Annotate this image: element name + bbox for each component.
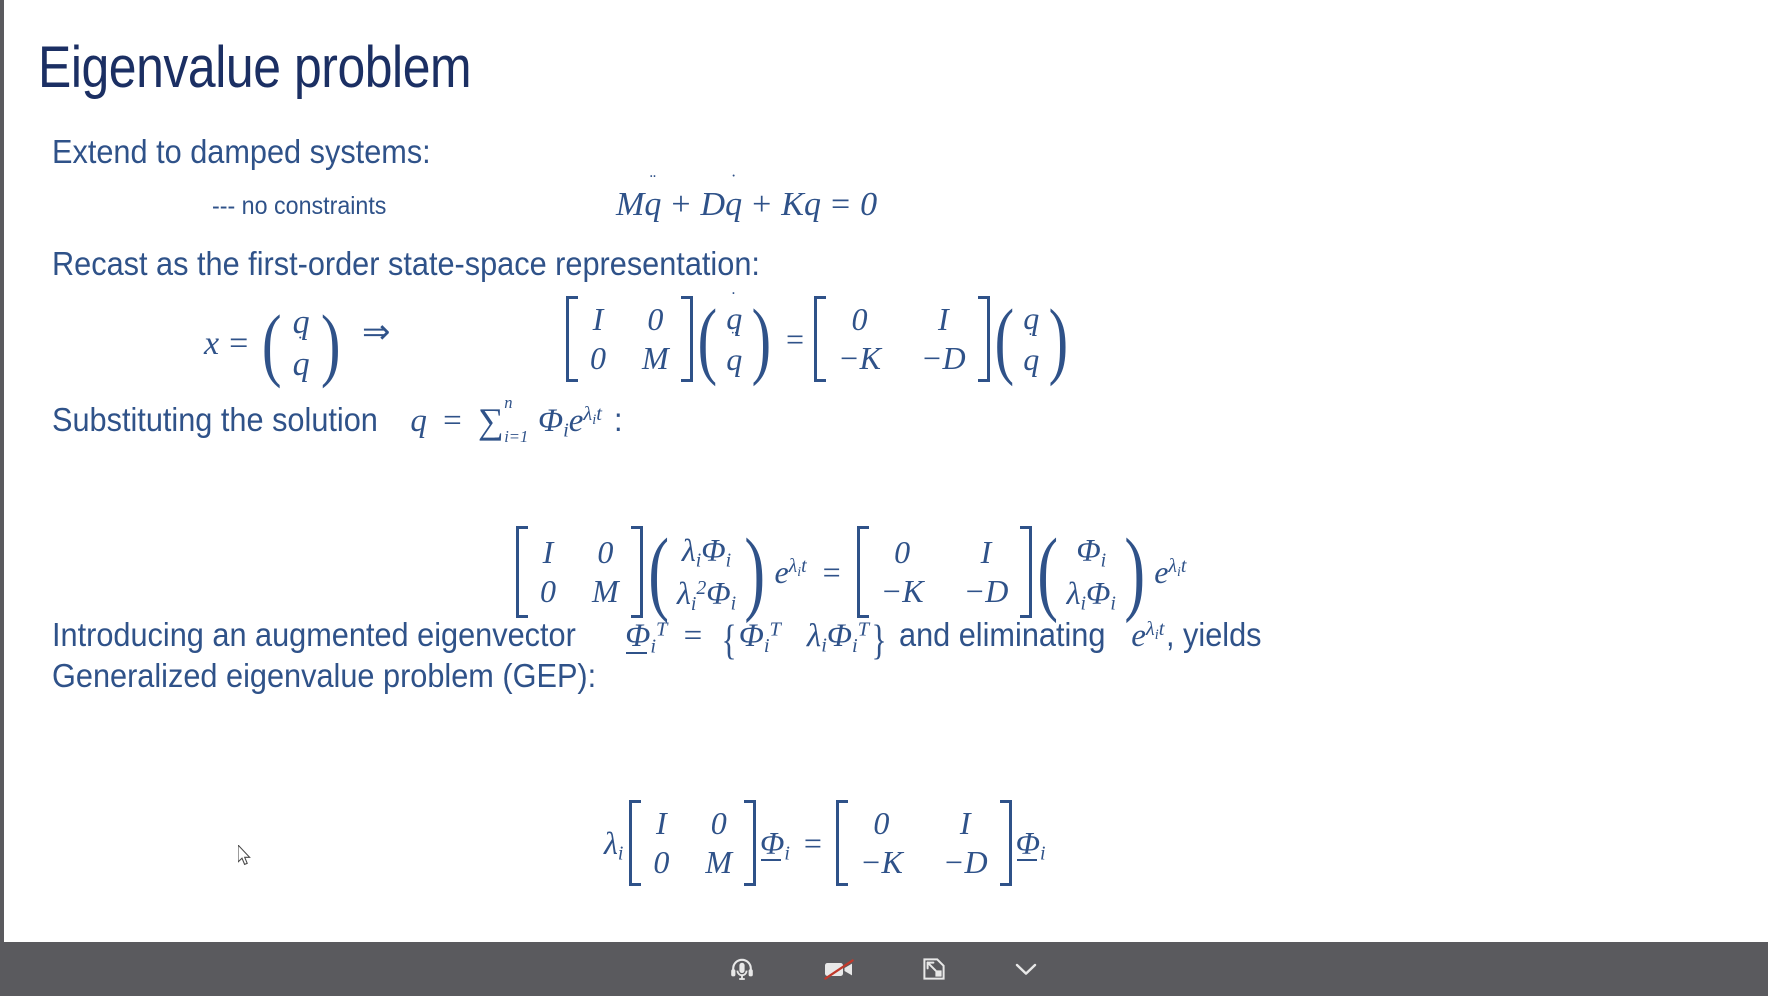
state-space-right-matrix: 0 I −K −D: [814, 296, 990, 382]
implies-arrow: ⇒: [362, 316, 391, 350]
eom-qdot: q˙: [725, 186, 742, 224]
text-substituting-solution-row: Substituting the solution q = ∑ni=1 Φieλ…: [52, 400, 623, 442]
sub-right-vector-row-1: Φi: [1076, 532, 1106, 569]
screen-share-viewport: Eigenvalue problem Extend to damped syst…: [0, 0, 1768, 996]
text-and-eliminating: and eliminating: [899, 616, 1105, 654]
generalized-eigenvalue-problem-equation: λi I 0 0 M Φi = 0 I −K −D: [604, 800, 1045, 886]
exit-fullscreen-icon: [921, 956, 947, 982]
text-introducing-row: Introducing an augmented eigenvector ΦiT…: [52, 616, 1269, 662]
augmented-phi-symbol: Φ: [625, 618, 650, 655]
summation-sign: ∑ni=1: [478, 400, 504, 442]
substituted-equals: =: [807, 554, 857, 591]
left-matrix-cell-1-0: 0: [590, 340, 606, 377]
left-vector-row-2: q¨: [726, 341, 742, 378]
sub-right-matrix-cell-1-0: −K: [881, 573, 924, 610]
sub-left-vector-row-2: λi2Φi: [677, 575, 736, 612]
augmented-component-2: λiΦiT: [807, 618, 869, 654]
gep-right-matrix: 0 I −K −D: [836, 800, 1012, 886]
gep-left-matrix-cell-0-1: 0: [711, 805, 727, 842]
sub-left-matrix-cell-1-0: 0: [540, 573, 556, 610]
text-recast-state-space: Recast as the first-order state-space re…: [52, 245, 760, 283]
substituted-left-exponential: eλit: [774, 554, 806, 591]
substituted-matrix-equation: I 0 0 M ( λiΦi λi2Φi ) eλit =: [516, 525, 1186, 619]
ansatz-exponential: eλit: [569, 403, 602, 439]
state-vector-x: x: [204, 325, 219, 363]
gep-right-eigenvector: Φi: [1016, 825, 1046, 862]
gep-lambda: λi: [604, 825, 623, 862]
gep-equals: =: [790, 825, 836, 862]
gep-right-matrix-cell-0-1: I: [960, 805, 971, 842]
camera-off-icon: [823, 956, 857, 982]
sub-left-matrix-cell-0-0: I: [543, 534, 554, 571]
right-vector-row-2: q˙: [1023, 341, 1039, 378]
eom-plus-1: +: [661, 186, 700, 224]
audio-device-button[interactable]: [697, 942, 787, 996]
right-matrix-cell-1-0: −K: [838, 340, 881, 377]
gep-right-matrix-cell-1-0: −K: [860, 844, 903, 881]
gep-left-eigenvector: Φi: [760, 825, 790, 862]
substituted-left-vector: ( λiΦi λi2Φi ): [643, 525, 771, 619]
ansatz-q: q: [410, 403, 427, 439]
gep-left-matrix: I 0 0 M: [629, 800, 756, 886]
more-options-button[interactable]: [981, 942, 1071, 996]
exit-fullscreen-button[interactable]: [889, 942, 979, 996]
mouse-pointer: [238, 845, 254, 867]
right-matrix-cell-0-1: I: [938, 301, 949, 338]
inline-eliminated-exponential: eλit: [1131, 618, 1164, 655]
left-matrix-cell-0-1: 0: [647, 301, 663, 338]
substituted-right-vector: ( Φi λiΦi ): [1032, 525, 1150, 619]
state-vector-definition: x = ( q q˙ ): [204, 300, 344, 388]
eom-qddot: q¨: [644, 186, 661, 224]
ansatz-phi: Φi: [538, 403, 569, 439]
left-matrix-cell-0-0: I: [593, 301, 604, 338]
ansatz-equals: =: [435, 403, 470, 439]
text-yields: , yields: [1166, 616, 1262, 654]
text-extend-damped-systems: Extend to damped systems:: [52, 133, 431, 171]
eom-mass-matrix: M: [616, 186, 644, 224]
sub-right-matrix-cell-0-0: 0: [894, 534, 910, 571]
inline-augmented-eigenvector: ΦiT = {ΦiTλiΦiT}: [625, 618, 889, 662]
augmented-equals: =: [676, 618, 711, 654]
state-space-matrix-equation: I 0 0 M ( q˙ q¨ ) = 0 I: [566, 296, 1073, 382]
headset-icon: [729, 956, 755, 982]
state-vector-column: ( q q˙ ): [258, 300, 344, 388]
sub-right-matrix-cell-0-1: I: [981, 534, 992, 571]
gep-right-matrix-cell-1-1: −D: [943, 844, 988, 881]
equation-of-motion: Mq¨ + Dq˙ + Kq = 0: [616, 186, 877, 224]
camera-toggle-button[interactable]: [795, 942, 885, 996]
sub-left-vector-row-1: λiΦi: [682, 532, 731, 569]
state-vector-equals: =: [219, 325, 258, 363]
state-space-left-matrix: I 0 0 M: [566, 296, 693, 382]
eom-damping-matrix: D: [701, 186, 726, 224]
substituted-right-matrix: 0 I −K −D: [857, 526, 1033, 618]
chevron-down-icon: [1013, 960, 1039, 978]
state-space-equals: =: [776, 321, 814, 358]
substituted-left-matrix: I 0 0 M: [516, 526, 643, 618]
state-vector-row-2: q˙: [293, 346, 310, 384]
substituted-right-exponential: eλit: [1154, 554, 1186, 591]
state-space-left-vector: ( q˙ q¨ ): [693, 296, 776, 382]
state-space-right-vector: ( q q˙ ): [990, 296, 1073, 382]
gep-left-matrix-cell-1-0: 0: [653, 844, 669, 881]
eom-equals: =: [821, 186, 860, 224]
text-introducing-augmented-eigenvector: Introducing an augmented eigenvector: [52, 616, 576, 654]
gep-left-matrix-cell-0-0: I: [656, 805, 667, 842]
call-control-toolbar: [0, 942, 1768, 996]
right-matrix-cell-0-0: 0: [851, 301, 867, 338]
inline-modal-solution: q = ∑ni=1 Φieλit: [410, 400, 602, 442]
eom-q: q: [804, 186, 821, 224]
text-no-constraints: --- no constraints: [212, 192, 386, 221]
right-matrix-cell-1-1: −D: [921, 340, 966, 377]
augmented-component-1: ΦiT: [739, 618, 781, 654]
sub-left-matrix-cell-0-1: 0: [597, 534, 613, 571]
left-matrix-cell-1-1: M: [642, 340, 669, 377]
gep-left-matrix-cell-1-1: M: [705, 844, 732, 881]
eom-plus-2: +: [742, 186, 781, 224]
presentation-slide: Eigenvalue problem Extend to damped syst…: [4, 0, 1765, 942]
text-substituting-colon: :: [614, 401, 623, 439]
sub-left-matrix-cell-1-1: M: [592, 573, 619, 610]
sub-right-vector-row-2: λiΦi: [1067, 575, 1116, 612]
sub-right-matrix-cell-1-1: −D: [964, 573, 1009, 610]
eom-zero: 0: [860, 186, 877, 224]
eom-stiffness-matrix: K: [781, 186, 804, 224]
text-substituting-solution: Substituting the solution: [52, 401, 378, 439]
page-title: Eigenvalue problem: [38, 34, 471, 101]
gep-right-matrix-cell-0-0: 0: [873, 805, 889, 842]
text-generalized-eigenvalue-problem: Generalized eigenvalue problem (GEP):: [52, 657, 596, 695]
